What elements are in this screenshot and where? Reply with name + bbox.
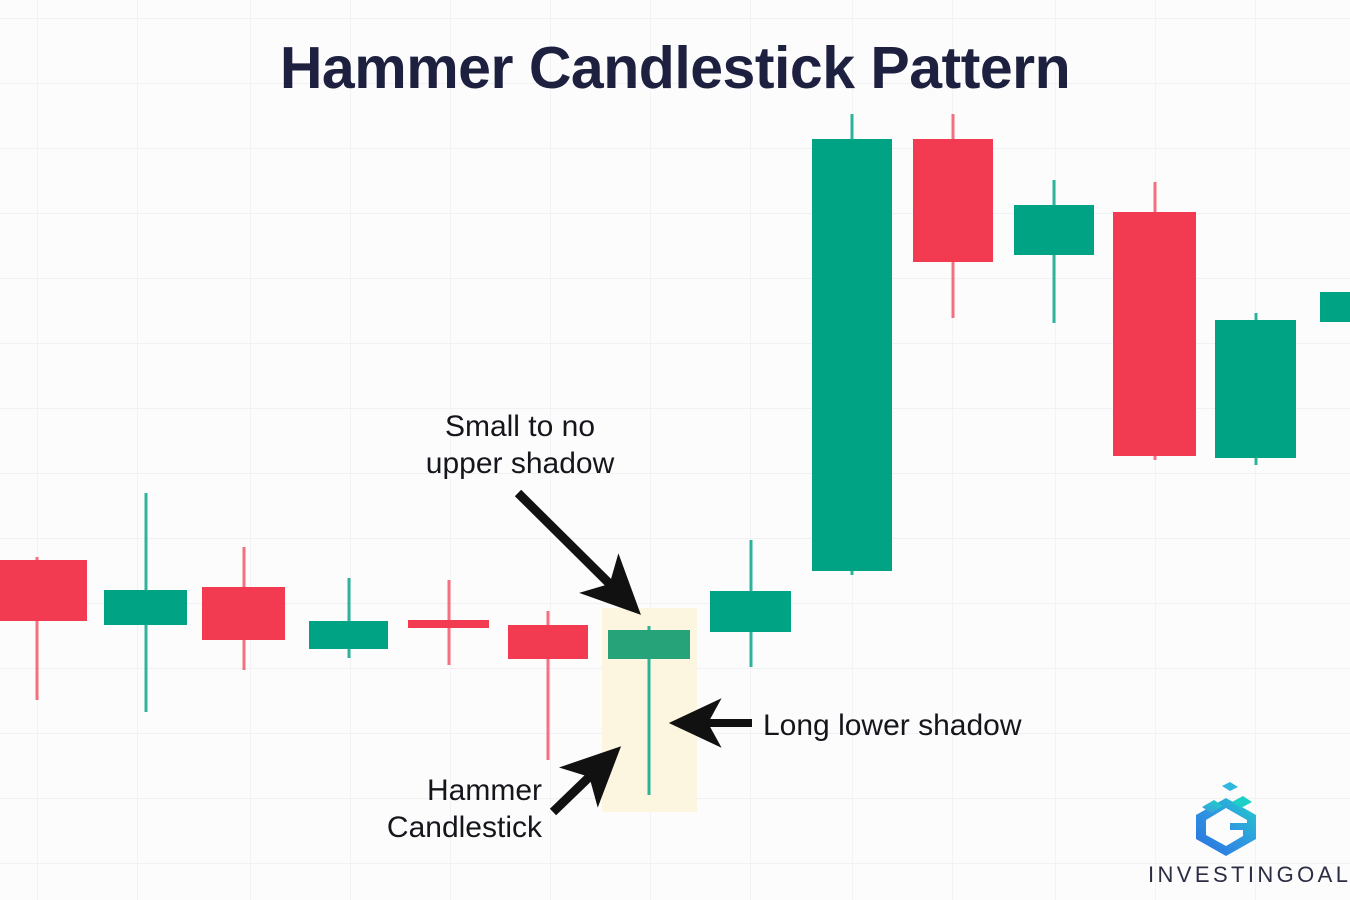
candle-body [608,630,690,659]
logo-wordmark: INVESTINGOAL [1148,862,1350,888]
candle-bearish [508,611,588,760]
candle-bearish [202,547,285,670]
gridline-vertical [350,0,351,900]
candle-bullish [309,578,388,658]
candle-body [202,587,285,640]
candle-bearish [913,114,993,318]
annotation-hammer-label: Hammer Candlestick [310,772,542,846]
candle-body [1113,212,1196,456]
candle-bearish [408,580,489,665]
gridline-vertical [1055,0,1056,900]
candle-bullish [710,540,791,667]
candle-bullish [1320,292,1350,322]
candle-hammer [608,626,690,795]
candle-bearish [1113,182,1196,460]
gridline-horizontal [0,538,1350,539]
candle-bearish [0,557,87,700]
gridline-horizontal [0,18,1350,19]
candle-body [104,590,187,625]
candle-body [913,139,993,262]
page-title: Hammer Candlestick Pattern [0,34,1350,102]
candle-body [309,621,388,649]
candle-bullish [812,114,892,575]
hexagon-ig-icon [1186,782,1266,856]
annotation-lower-shadow: Long lower shadow [763,707,1063,744]
candle-body [1320,292,1350,322]
candle-body [508,625,588,659]
investingoal-logo: INVESTINGOAL [1148,782,1348,890]
candle-body [710,591,791,632]
candle-body [1215,320,1296,458]
annotation-upper-shadow: Small to no upper shadow [390,408,650,482]
candle-body [408,620,489,628]
gridline-vertical [750,0,751,900]
chart-canvas: Hammer Candlestick Pattern Small to no u… [0,0,1350,900]
gridline-vertical [250,0,251,900]
gridline-vertical [137,0,138,900]
candle-bullish [1215,313,1296,465]
gridline-horizontal [0,473,1350,474]
gridline-horizontal [0,148,1350,149]
candle-body [812,139,892,571]
candle-bullish [1014,180,1094,323]
candle-bullish [104,493,187,712]
candle-body [1014,205,1094,255]
gridline-vertical [37,0,38,900]
candle-body [0,560,87,621]
